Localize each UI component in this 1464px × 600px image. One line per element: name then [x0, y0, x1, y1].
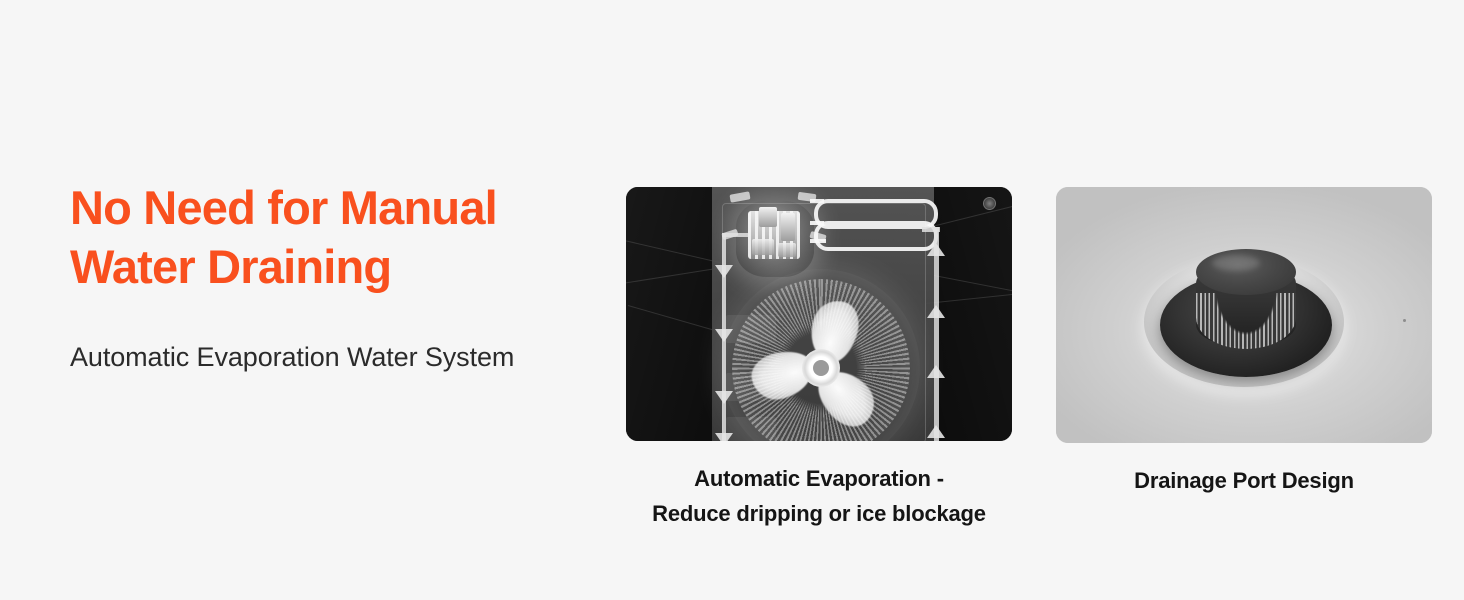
drainage-port-image — [1056, 187, 1432, 443]
compressor-component — [778, 243, 796, 257]
condenser-fan — [746, 293, 896, 441]
flow-arrow-up-icon — [927, 243, 945, 256]
figure-automatic-evaporation: Automatic Evaporation - Reduce dripping … — [626, 187, 1012, 531]
drain-plug-highlight — [1212, 255, 1260, 271]
flow-arrow-up-icon — [927, 305, 945, 318]
water-flow-path-right — [934, 227, 939, 441]
fan-hub-center — [813, 360, 829, 376]
screw-icon — [983, 197, 996, 210]
refrigerant-tube-stub — [810, 221, 824, 225]
surface-speck — [1403, 319, 1406, 322]
flow-arrow-up-icon — [927, 425, 945, 438]
flow-arrow-down-icon — [715, 433, 733, 441]
promo-banner: No Need for Manual Water Draining Automa… — [0, 0, 1464, 600]
page-title: No Need for Manual Water Draining — [70, 178, 570, 296]
compressor-component — [752, 239, 774, 255]
flow-arrow-down-icon — [715, 329, 733, 342]
figure-drainage-port: Drainage Port Design — [1056, 187, 1432, 498]
figure-caption: Automatic Evaporation - Reduce dripping … — [626, 441, 1012, 531]
flow-arrow-up-icon — [927, 365, 945, 378]
subtitle: Automatic Evaporation Water System — [70, 296, 570, 374]
figure-caption: Drainage Port Design — [1056, 443, 1432, 498]
evaporation-diagram-image — [626, 187, 1012, 441]
refrigerant-tube-stub — [810, 239, 826, 243]
refrigerant-tube-stub — [810, 199, 824, 203]
figure-group: Automatic Evaporation - Reduce dripping … — [586, 171, 1396, 521]
flow-arrow-down-icon — [715, 265, 733, 278]
refrigerant-tube — [814, 221, 938, 251]
compressor-component — [781, 213, 795, 241]
copy-block: No Need for Manual Water Draining Automa… — [70, 178, 570, 374]
compressor-component — [759, 207, 777, 227]
flow-arrow-down-icon — [715, 391, 733, 404]
